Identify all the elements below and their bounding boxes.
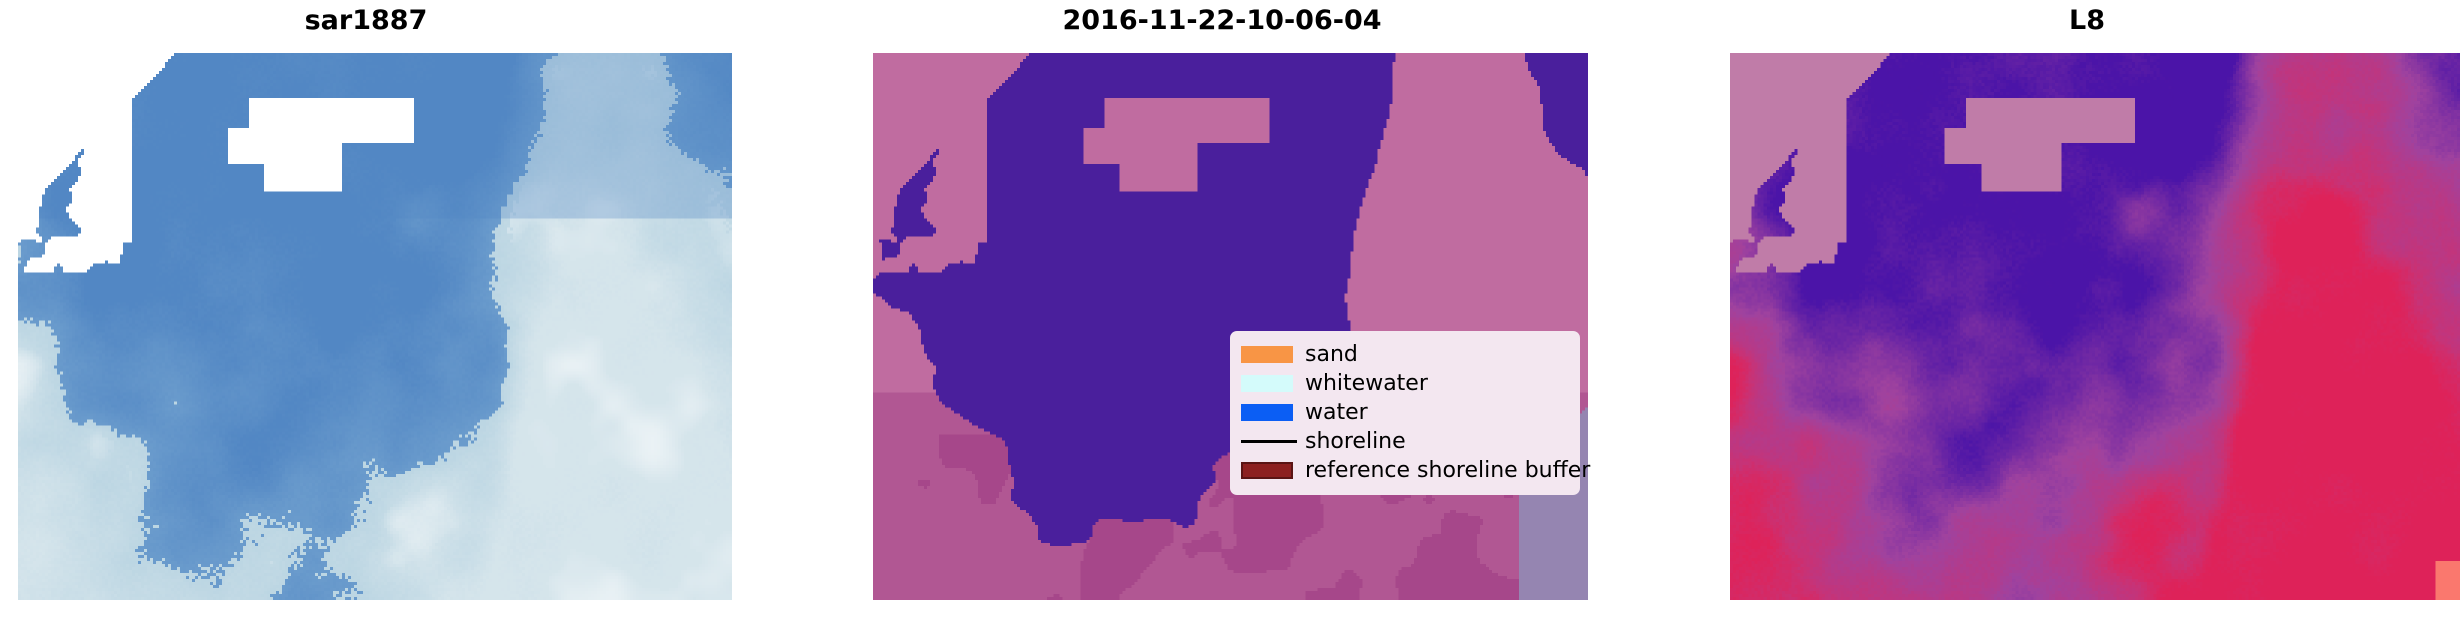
legend-swatch-water: [1241, 404, 1293, 421]
raster-l8: [1730, 53, 2460, 600]
panel-title-1: sar1887: [0, 4, 732, 38]
axes-sar1887: [18, 53, 732, 600]
legend-swatch-shoreline: [1241, 440, 1297, 443]
legend-item-reference-shoreline-buffer: reference shoreline buffer: [1241, 456, 1569, 485]
axes-l8: [1730, 53, 2460, 600]
legend-swatch-wrap-sand: [1241, 340, 1305, 369]
panel-l8: L8: [1714, 0, 2460, 617]
panel-classification: 2016-11-22-10-06-04: [856, 0, 1588, 617]
legend-swatch-wrap-whitewater: [1241, 369, 1305, 398]
panel-title-2: 2016-11-22-10-06-04: [856, 4, 1588, 38]
figure-canvas: sar1887 2016-11-22-10-06-04 L8 sand whit…: [0, 0, 2460, 617]
legend-swatch-sand: [1241, 346, 1293, 363]
legend-item-water: water: [1241, 398, 1569, 427]
legend-swatch-wrap-water: [1241, 398, 1305, 427]
raster-sar1887: [18, 53, 732, 600]
legend-item-whitewater: whitewater: [1241, 369, 1569, 398]
legend-swatch-wrap-reference-shoreline-buffer: [1241, 456, 1305, 485]
legend-label-reference-shoreline-buffer: reference shoreline buffer: [1305, 456, 1590, 485]
legend-label-shoreline: shoreline: [1305, 427, 1406, 456]
panel-sar1887: sar1887: [0, 0, 732, 617]
legend-label-water: water: [1305, 398, 1368, 427]
legend-swatch-reference-shoreline-buffer: [1241, 462, 1293, 479]
legend-swatch-wrap-shoreline: [1241, 427, 1305, 456]
legend-item-sand: sand: [1241, 340, 1569, 369]
legend-item-shoreline: shoreline: [1241, 427, 1569, 456]
legend-swatch-whitewater: [1241, 375, 1293, 392]
map-legend: sand whitewater water shoreline referenc…: [1230, 331, 1580, 495]
legend-label-whitewater: whitewater: [1305, 369, 1428, 398]
legend-label-sand: sand: [1305, 340, 1358, 369]
raster-classification: [873, 53, 1588, 600]
panel-title-3: L8: [1714, 4, 2460, 38]
axes-classification: [873, 53, 1588, 600]
